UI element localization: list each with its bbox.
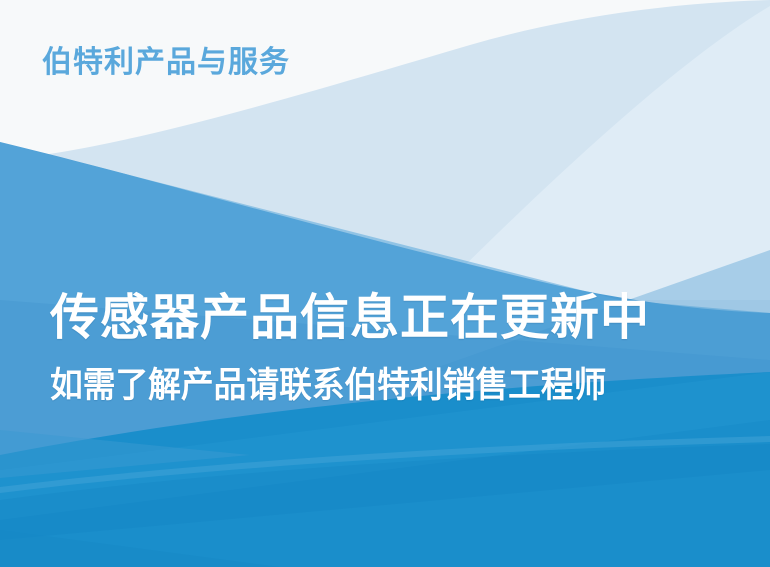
headline-primary: 传感器产品信息正在更新中 (50, 292, 770, 346)
product-placeholder-banner: 伯特利产品与服务 传感器产品信息正在更新中 如需了解产品请联系伯特利销售工程师 (0, 0, 770, 567)
page-title: 伯特利产品与服务 (42, 44, 290, 82)
decorative-background-art (0, 0, 770, 567)
headline-block: 传感器产品信息正在更新中 如需了解产品请联系伯特利销售工程师 (0, 292, 770, 405)
headline-secondary: 如需了解产品请联系伯特利销售工程师 (50, 367, 723, 406)
